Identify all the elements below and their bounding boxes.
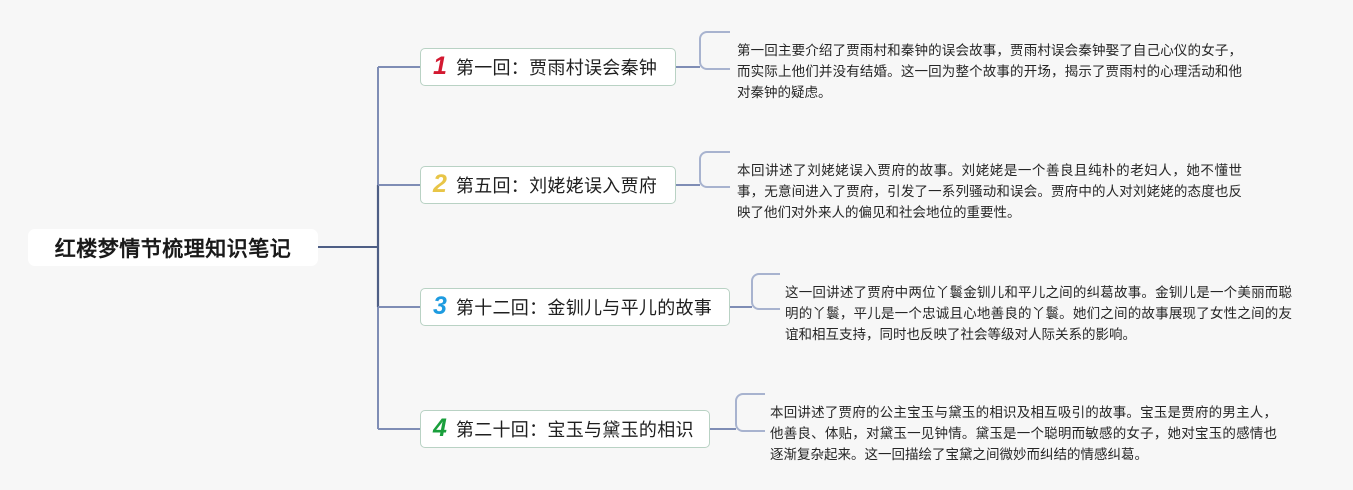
branch-description-3: 这一回讲述了贾府中两位丫鬟金钏儿和平儿之间的纠葛故事。金钏儿是一个美丽而聪明的丫… bbox=[785, 282, 1292, 345]
branch-node-1[interactable]: 1 第一回：贾雨村误会秦钟 bbox=[420, 48, 676, 86]
root-node[interactable]: 红楼梦情节梳理知识笔记 bbox=[28, 229, 318, 266]
branch-node-4[interactable]: 4 第二十回：宝玉与黛玉的相识 bbox=[420, 410, 710, 448]
desc-bracket-2 bbox=[700, 152, 730, 187]
branch-number-1: 1 bbox=[433, 54, 447, 79]
desc-bracket-4 bbox=[736, 394, 765, 431]
branch-description-1: 第一回主要介绍了贾雨村和秦钟的误会故事，贾雨村误会秦钟娶了自己心仪的女子，而实际… bbox=[737, 40, 1242, 103]
branch-description-2: 本回讲述了刘姥姥误入贾府的故事。刘姥姥是一个善良且纯朴的老妇人，她不懂世事，无意… bbox=[737, 160, 1242, 223]
root-node-title: 红楼梦情节梳理知识笔记 bbox=[55, 233, 292, 263]
branch-label-3: 第十二回：金钏儿与平儿的故事 bbox=[456, 294, 712, 320]
branch-node-3[interactable]: 3 第十二回：金钏儿与平儿的故事 bbox=[420, 288, 730, 326]
branch-label-1: 第一回：贾雨村误会秦钟 bbox=[456, 54, 657, 80]
branch-number-2: 2 bbox=[433, 172, 447, 197]
branch-description-4: 本回讲述了贾府的公主宝玉与黛玉的相识及相互吸引的故事。宝玉是贾府的男主人，他善良… bbox=[770, 402, 1277, 465]
branch-label-4: 第二十回：宝玉与黛玉的相识 bbox=[456, 416, 694, 442]
branch-number-3: 3 bbox=[433, 294, 447, 319]
mindmap-canvas: 红楼梦情节梳理知识笔记 1 第一回：贾雨村误会秦钟 2 第五回：刘姥姥误入贾府 … bbox=[0, 0, 1353, 490]
branch-number-4: 4 bbox=[433, 416, 447, 441]
desc-bracket-3 bbox=[752, 274, 780, 309]
branch-node-2[interactable]: 2 第五回：刘姥姥误入贾府 bbox=[420, 166, 676, 204]
branch-label-2: 第五回：刘姥姥误入贾府 bbox=[456, 172, 657, 198]
desc-bracket-1 bbox=[700, 32, 730, 69]
